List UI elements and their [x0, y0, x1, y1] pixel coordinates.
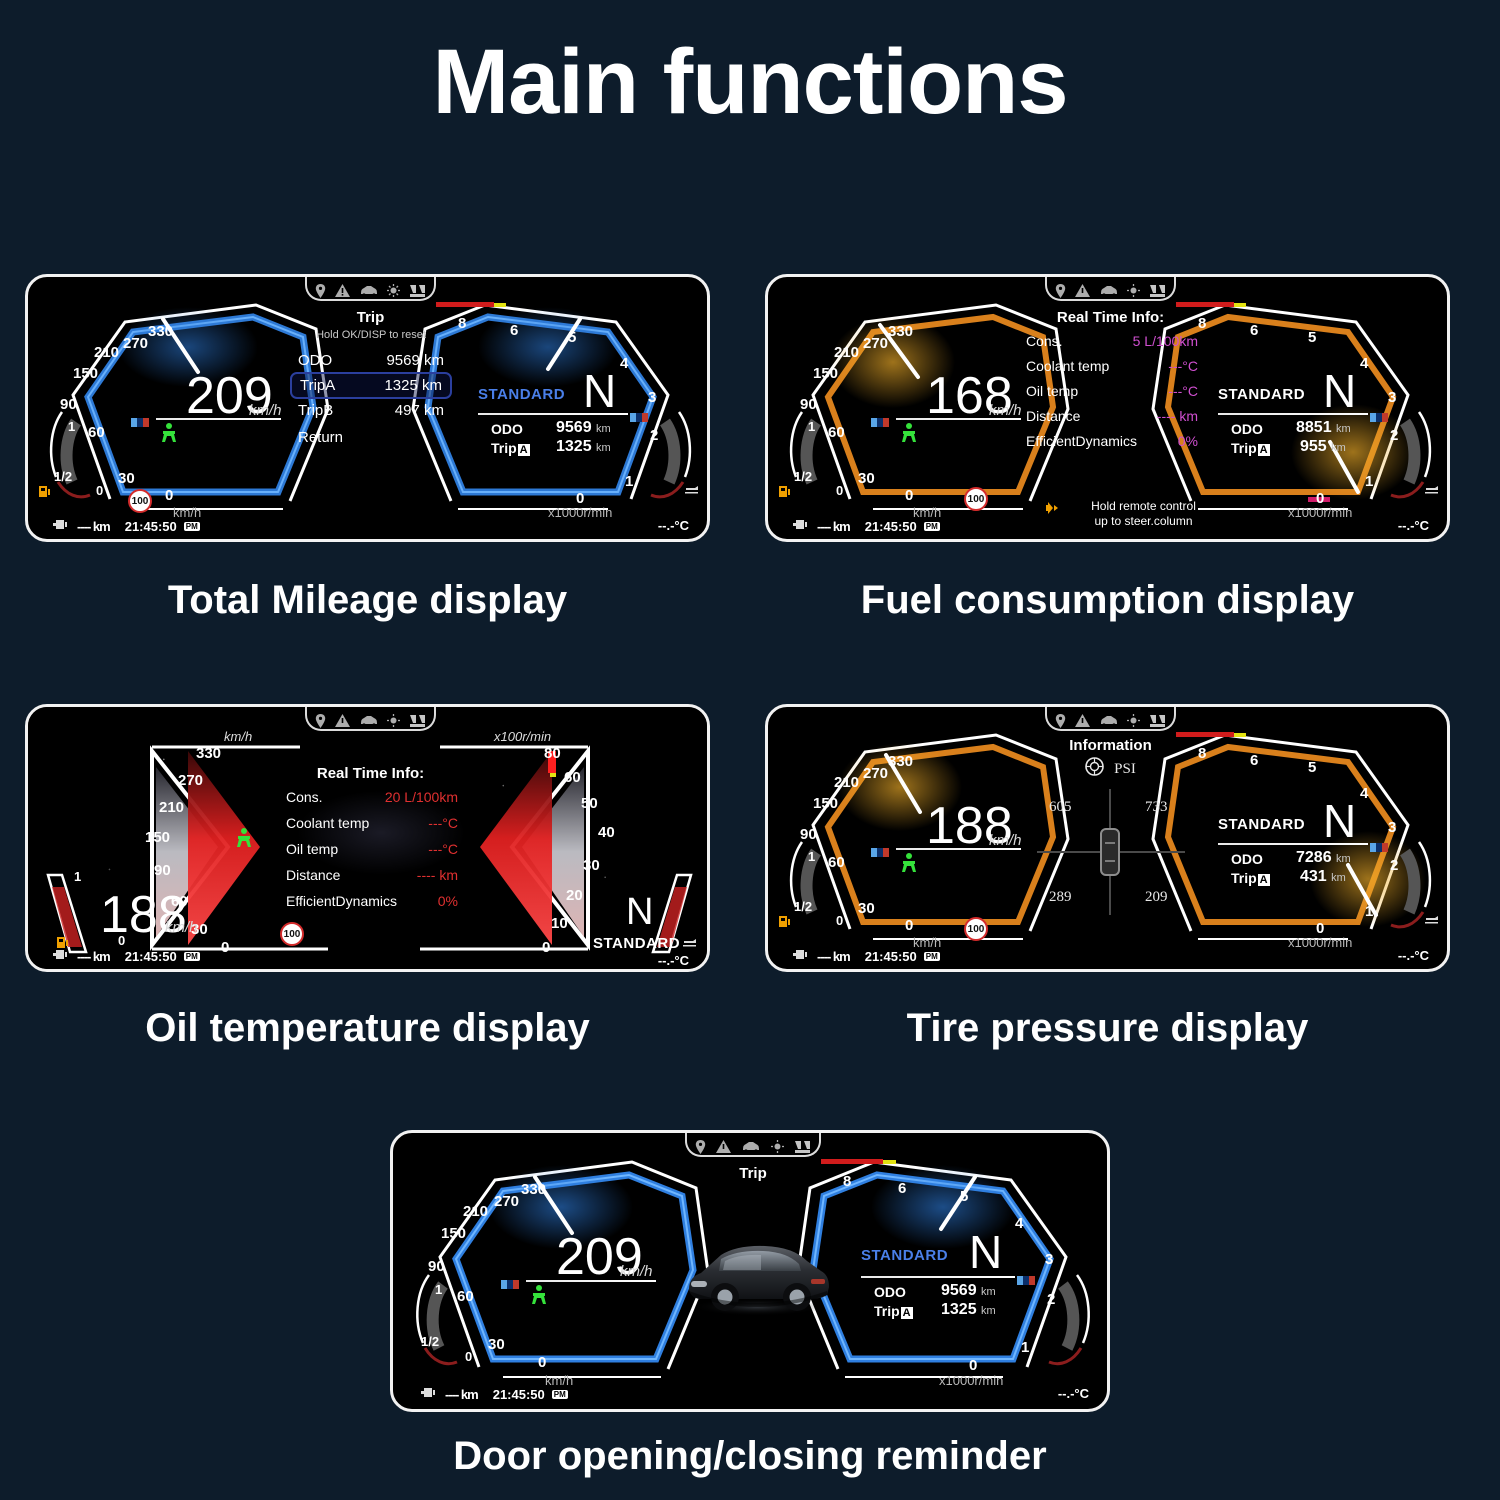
outside-temp: --.-°C: [1398, 948, 1429, 963]
status-bar: ---- km 21:45:50 PM: [53, 518, 200, 534]
speed-tick-60: 60: [828, 854, 845, 871]
trip-menu-item-return[interactable]: Return: [290, 426, 452, 449]
person-seatbelt-icon: [528, 1284, 550, 1310]
car-top-view-icon: [1100, 828, 1120, 876]
tach-tick-0: 0: [969, 1357, 977, 1374]
tach-tick-3: 3: [1045, 1251, 1053, 1268]
info-row: EfficientDynamics 0%: [286, 893, 458, 909]
warning-icon-row: [315, 283, 426, 303]
speed-tick-150: 150: [73, 365, 98, 382]
drive-mode-standard: STANDARD: [593, 935, 680, 952]
tire-front-left-value: 605: [1049, 799, 1072, 816]
trip-menu-label: TripA: [300, 377, 335, 394]
info-value: ---- km: [417, 867, 458, 883]
status-bar: ---- km 21:45:50 PM: [421, 1386, 568, 1402]
trip-menu-value: 9569 km: [386, 352, 444, 369]
car-icon: [741, 1140, 761, 1158]
tach-tick-1: 1: [1365, 473, 1373, 490]
gear-letter: N: [583, 368, 616, 414]
clock-time: 21:45:50: [125, 949, 177, 964]
trip-menu-label: ODO: [298, 352, 332, 369]
clock-time: 21:45:50: [865, 519, 917, 534]
caption-door-reminder: Door opening/closing reminder: [390, 1434, 1110, 1479]
fuel-pump-icon: [778, 914, 791, 929]
drive-mode-standard: STANDARD: [1218, 386, 1305, 403]
speed-tick-0: 0: [165, 487, 173, 504]
odo-value-row: 9569 km: [941, 1282, 996, 1300]
info-row: Distance ---- km: [1026, 408, 1198, 424]
speed-tick-0: 0: [905, 487, 913, 504]
info-row: EfficientDynamics 0%: [1026, 433, 1198, 449]
person-seatbelt-icon: [898, 852, 920, 878]
info-value: ---°C: [1168, 358, 1198, 374]
warning-triangle-icon: [335, 284, 350, 302]
drive-mode-standard: STANDARD: [1218, 816, 1305, 833]
tach-tick-1: 1: [1021, 1339, 1029, 1356]
tach-tick-4: 4: [1360, 355, 1368, 372]
gear-letter: N: [626, 893, 653, 931]
m-stripe-right: [1370, 839, 1396, 848]
fuel-label-1: 1: [74, 869, 81, 884]
tach-tick-3: 3: [1388, 819, 1396, 836]
tach-tick-60: 60: [564, 769, 581, 786]
fuel-label-half: 1/2: [54, 469, 72, 484]
odo-row: ODO: [1231, 851, 1263, 867]
range-value: ---- km: [445, 1387, 478, 1402]
cluster-screen: 330 270 210 150 90 60 30 0 km/h 8 6 5 4 …: [768, 707, 1447, 969]
speed-scale-unit: km/h: [224, 729, 252, 744]
odo-unit: km: [981, 1286, 996, 1298]
tach-tick-10: 10: [551, 915, 568, 932]
gear-letter: N: [1323, 368, 1356, 414]
range-icon: [421, 1386, 438, 1402]
speed-tick-330: 330: [196, 745, 221, 762]
speed-divider-line: [896, 848, 1021, 850]
tach-tick-50: 50: [581, 795, 598, 812]
tire-front-right-value: 733: [1145, 799, 1168, 816]
clock-time: 21:45:50: [865, 949, 917, 964]
speed-tick-210: 210: [834, 774, 859, 791]
fuel-label-half: 1/2: [421, 1334, 439, 1349]
tach-tick-6: 6: [510, 322, 518, 339]
odo-value: 9569: [941, 1282, 977, 1299]
odo-value-row: 7286 km: [1296, 849, 1351, 867]
trip-value: 1325: [941, 1301, 977, 1318]
cluster-panel-door-reminder[interactable]: Trip 330 270 210 150 90 60 30 0 km/h 8 6…: [390, 1130, 1110, 1412]
gear-letter: N: [969, 1229, 1002, 1275]
trip-label: Trip: [1231, 870, 1257, 886]
tire-pressure-unit: PSI: [1114, 761, 1136, 778]
info-value: 5 L/100km: [1133, 333, 1198, 349]
speed-tick-30: 30: [118, 470, 135, 487]
tach-tick-30: 30: [583, 857, 600, 874]
odo-value: 8851: [1296, 419, 1332, 436]
trip-menu-item[interactable]: TripB 497 km: [290, 399, 452, 422]
info-row: Cons. 20 L/100km: [286, 789, 458, 805]
sun-icon: [387, 284, 400, 302]
fuel-pump-icon: [778, 484, 791, 499]
remote-control-note: Hold remote controlup to steer.column: [1066, 499, 1221, 529]
trip-unit: km: [981, 1305, 996, 1317]
tach-tick-20: 20: [566, 887, 583, 904]
info-row: Oil temp ---°C: [286, 841, 458, 857]
trip-label: Trip: [1231, 440, 1257, 456]
tach-tick-2: 2: [650, 427, 658, 444]
odo-unit: km: [1336, 853, 1351, 865]
caption-total-mileage: Total Mileage display: [25, 578, 710, 623]
info-label: Distance: [286, 867, 340, 883]
trip-value-row: 955 km: [1300, 438, 1346, 456]
info-label: Oil temp: [286, 841, 338, 857]
trip-menu-item[interactable]: ODO 9569 km: [290, 349, 452, 372]
person-seatbelt-icon: [233, 827, 255, 853]
cluster-panel-tire-pressure[interactable]: 330 270 210 150 90 60 30 0 km/h 8 6 5 4 …: [765, 704, 1450, 972]
cluster-screen: km/h x100r/min 330 270 210 150 90 60 30 …: [28, 707, 707, 969]
tach-tick-80: 80: [544, 745, 561, 762]
odo-label: ODO: [1231, 421, 1263, 437]
speed-value-unit: km/h: [249, 402, 282, 419]
tach-unit-label: x1000r/min: [939, 1373, 1003, 1388]
sun-icon: [1127, 714, 1140, 732]
trip-value: 431: [1300, 868, 1327, 885]
tach-tick-2: 2: [1390, 857, 1398, 874]
drive-mode-standard: STANDARD: [861, 1247, 948, 1264]
key-fob-icon: [1040, 499, 1062, 522]
speed-tick-150: 150: [441, 1225, 466, 1242]
tach-unit-label: x1000r/min: [1288, 505, 1352, 520]
info-label: EfficientDynamics: [1026, 433, 1137, 449]
tach-tick-2: 2: [1390, 427, 1398, 444]
trip-badge-a: A: [901, 1307, 913, 1319]
caption-oil-temperature: Oil temperature display: [25, 1006, 710, 1051]
fuel-pump-icon: [38, 484, 51, 499]
info-label: Oil temp: [1026, 383, 1078, 399]
speed-tick-210: 210: [463, 1203, 488, 1220]
trip-badge-a: A: [518, 444, 530, 456]
person-seatbelt-icon: [898, 422, 920, 448]
speed-tick-330: 330: [521, 1181, 546, 1198]
realtime-info-list: Cons. 20 L/100km Coolant temp ---°C Oil …: [286, 789, 458, 909]
outside-temp: --.-°C: [1058, 1386, 1089, 1401]
clock-meridiem: PM: [924, 952, 940, 961]
tach-tick-4: 4: [1360, 785, 1368, 802]
trip-label: Trip: [874, 1303, 900, 1319]
speed-tick-90: 90: [60, 396, 77, 413]
tach-tick-8: 8: [458, 315, 466, 332]
range-value: ---- km: [817, 949, 850, 964]
center-info-title: Real Time Info:: [1033, 309, 1188, 326]
car-icon: [359, 284, 379, 302]
tach-tick-5: 5: [1308, 329, 1316, 346]
tach-unit-label: x1000r/min: [548, 505, 612, 520]
range-icon: [53, 948, 70, 964]
trip-menu-value: 1325 km: [384, 377, 442, 394]
speed-value-unit: km/h: [989, 402, 1022, 419]
fuel-label-0: 0: [118, 933, 125, 948]
car-icon: [1099, 284, 1119, 302]
speed-limit-sign: 100: [964, 487, 988, 511]
tach-tick-4: 4: [1015, 1215, 1023, 1232]
range-icon: [793, 948, 810, 964]
fuel-label-0: 0: [836, 483, 843, 498]
clock-time: 21:45:50: [125, 519, 177, 534]
speed-tick-270: 270: [178, 772, 203, 789]
info-label: Coolant temp: [286, 815, 369, 831]
speed-tick-210: 210: [94, 344, 119, 361]
trip-row: TripA: [874, 1303, 913, 1319]
tach-tick-5: 5: [1308, 759, 1316, 776]
info-row: Distance ---- km: [286, 867, 458, 883]
trip-value: 1325: [556, 438, 592, 455]
range-value: ---- km: [77, 519, 110, 534]
fuel-label-0: 0: [96, 483, 103, 498]
cluster-screen: Trip 330 270 210 150 90 60 30 0 km/h 8 6…: [393, 1133, 1107, 1409]
car-icon: [1099, 714, 1119, 732]
trip-row: TripA: [1231, 440, 1270, 456]
clock-meridiem: PM: [184, 522, 200, 531]
clock-meridiem: PM: [924, 522, 940, 531]
odo-row: ODO: [874, 1284, 906, 1300]
odo-row: ODO: [1231, 421, 1263, 437]
right-divider-line: [861, 1276, 1015, 1278]
speed-tick-150: 150: [813, 795, 838, 812]
info-label: EfficientDynamics: [286, 893, 397, 909]
trip-value-row: 431 km: [1300, 868, 1346, 886]
warning-icon-row: [315, 713, 426, 733]
tach-unit-label: x1000r/min: [1288, 935, 1352, 950]
speed-tick-210: 210: [159, 799, 184, 816]
seats-icon: [1149, 714, 1166, 733]
speed-tick-90: 90: [800, 826, 817, 843]
center-info-title: Real Time Info:: [293, 765, 448, 782]
location-pin-icon: [315, 284, 326, 303]
trip-menu-list: ODO 9569 km TripA 1325 km TripB 497 km R…: [290, 349, 452, 449]
trip-menu-value: 497 km: [395, 402, 444, 419]
tire-rear-left-value: 289: [1049, 889, 1072, 906]
tach-tick-40: 40: [598, 824, 615, 841]
fuel-label-0: 0: [465, 1349, 472, 1364]
tire-unit-row: PSI: [1033, 757, 1188, 781]
status-bar: ---- km 21:45:50 PM: [793, 948, 940, 964]
m-stripe-right: [1017, 1272, 1043, 1281]
outside-temp: --.-°C: [1398, 518, 1429, 533]
tach-tick-6: 6: [1250, 752, 1258, 769]
page-root: Main functions: [0, 0, 1500, 1500]
m-logo-badge: [131, 414, 157, 423]
fuel-label-1: 1: [808, 849, 815, 864]
trip-unit: km: [1331, 872, 1346, 884]
speed-value-unit: km/h: [165, 919, 198, 936]
speed-limit-sign: 100: [964, 917, 988, 941]
seats-icon: [794, 1140, 811, 1159]
tach-scale-unit: x100r/min: [494, 729, 551, 744]
speed-tick-60: 60: [457, 1288, 474, 1305]
right-divider-line: [1218, 413, 1368, 415]
warning-triangle-icon: [1075, 284, 1090, 302]
center-menu-subtitle: Hold OK/DISP to reset: [290, 329, 452, 341]
cluster-panel-total-mileage[interactable]: 330 270 210 150 90 60 30 0 km/h 8 6 5 4 …: [25, 274, 710, 542]
warning-icon-row: [1055, 283, 1166, 303]
speed-tick-90: 90: [428, 1258, 445, 1275]
tach-tick-5: 5: [568, 329, 576, 346]
outside-temp: --.-°C: [658, 518, 689, 533]
m-logo-badge: [501, 1276, 527, 1285]
caption-tire-pressure: Tire pressure display: [765, 1006, 1450, 1051]
info-value: ---°C: [428, 815, 458, 831]
clock-meridiem: PM: [184, 952, 200, 961]
realtime-info-list: Cons. 5 L/100km Coolant temp ---°C Oil t…: [1026, 333, 1198, 449]
speed-tick-60: 60: [828, 424, 845, 441]
warning-triangle-icon: [1075, 714, 1090, 732]
tach-tick-8: 8: [1198, 315, 1206, 332]
trip-badge-a: A: [1258, 874, 1270, 886]
center-menu-title: Trip: [305, 309, 436, 326]
speed-tick-0: 0: [538, 1354, 546, 1371]
trip-menu-label: TripB: [298, 402, 333, 419]
info-row: Coolant temp ---°C: [1026, 358, 1198, 374]
odo-label: ODO: [491, 421, 523, 437]
oil-can-icon: [684, 482, 697, 497]
speed-tick-210: 210: [834, 344, 859, 361]
right-divider-line: [478, 413, 628, 415]
tire-diagram: 605 733 289 209: [1023, 787, 1198, 917]
tach-tick-6: 6: [898, 1180, 906, 1197]
warning-icon-row: [1055, 713, 1166, 733]
tach-tick-1: 1: [1365, 903, 1373, 920]
trip-value-row: 1325 km: [556, 438, 611, 456]
warning-triangle-icon: [716, 1140, 731, 1158]
speed-tick-30: 30: [858, 470, 875, 487]
center-info-title: Information: [1033, 737, 1188, 754]
fuel-label-half: 1/2: [794, 899, 812, 914]
fuel-label-1: 1: [435, 1282, 442, 1297]
speed-divider-line: [896, 418, 1021, 420]
info-label: Distance: [1026, 408, 1080, 424]
trip-badge-a: A: [1258, 444, 1270, 456]
trip-menu-item-selected[interactable]: TripA 1325 km: [290, 372, 452, 399]
speed-tick-0: 0: [905, 917, 913, 934]
fuel-label-1: 1: [808, 419, 815, 434]
range-icon: [793, 518, 810, 534]
speed-tick-150: 150: [145, 829, 170, 846]
info-value: 0%: [1178, 433, 1198, 449]
m-logo-badge: [871, 414, 897, 423]
speed-tick-30: 30: [858, 900, 875, 917]
drive-mode-standard: STANDARD: [478, 386, 565, 403]
odo-label: ODO: [874, 1284, 906, 1300]
right-divider-line: [1218, 843, 1368, 845]
info-value: ---- km: [1157, 408, 1198, 424]
info-row: Oil temp ---°C: [1026, 383, 1198, 399]
speed-tick-270: 270: [494, 1193, 519, 1210]
outside-temp: --.-°C: [658, 953, 689, 968]
speed-tick-90: 90: [800, 396, 817, 413]
clock-meridiem: PM: [552, 1390, 568, 1399]
tach-tick-5: 5: [960, 1188, 968, 1205]
info-value: ---°C: [1168, 383, 1198, 399]
tach-tick-0: 0: [542, 939, 550, 956]
range-icon: [53, 518, 70, 534]
trip-label: Trip: [491, 440, 517, 456]
sun-icon: [387, 714, 400, 732]
oil-can-icon: [1424, 912, 1437, 927]
fuel-label-1: 1: [68, 419, 75, 434]
speed-tick-30: 30: [488, 1336, 505, 1353]
tach-tick-3: 3: [1388, 389, 1396, 406]
location-pin-icon: [315, 714, 326, 733]
tach-tick-1: 1: [625, 473, 633, 490]
trip-row: TripA: [1231, 870, 1270, 886]
m-stripe-right: [630, 409, 656, 418]
fuel-label-half: 1/2: [794, 469, 812, 484]
speed-tick-330: 330: [888, 323, 913, 340]
seats-icon: [409, 284, 426, 303]
cluster-panel-fuel-consumption[interactable]: 330 270 210 150 90 60 30 0 km/h 8 6 5 4 …: [765, 274, 1450, 542]
sun-icon: [1127, 284, 1140, 302]
odo-row: ODO: [491, 421, 523, 437]
cluster-panel-oil-temperature[interactable]: km/h x100r/min 330 270 210 150 90 60 30 …: [25, 704, 710, 972]
info-label: Coolant temp: [1026, 358, 1109, 374]
tire-rear-right-value: 209: [1145, 889, 1168, 906]
speed-tick-90: 90: [154, 862, 171, 879]
car-icon: [359, 714, 379, 732]
trip-unit: km: [1331, 442, 1346, 454]
m-stripe-right: [1370, 409, 1396, 418]
speed-tick-270: 270: [123, 335, 148, 352]
oil-can-icon: [1424, 482, 1437, 497]
speed-limit-sign: 100: [128, 489, 152, 513]
tach-tick-3: 3: [648, 389, 656, 406]
odo-value-row: 8851 km: [1296, 419, 1351, 437]
car-illustration: [681, 1233, 833, 1323]
speed-tick-270: 270: [863, 765, 888, 782]
odo-label: ODO: [1231, 851, 1263, 867]
location-pin-icon: [695, 1140, 706, 1159]
status-bar: ---- km 21:45:50 PM: [793, 518, 940, 534]
sun-icon: [771, 1140, 784, 1158]
tach-tick-8: 8: [1198, 745, 1206, 762]
trip-value: 955: [1300, 438, 1327, 455]
caption-fuel-consumption: Fuel consumption display: [765, 578, 1450, 623]
seats-icon: [409, 714, 426, 733]
clock-time: 21:45:50: [493, 1387, 545, 1402]
odo-value-row: 9569 km: [556, 419, 611, 437]
location-pin-icon: [1055, 714, 1066, 733]
tach-tick-6: 6: [1250, 322, 1258, 339]
speed-tick-60: 60: [88, 424, 105, 441]
range-value: ---- km: [77, 949, 110, 964]
page-title: Main functions: [0, 34, 1500, 131]
info-value: 0%: [438, 893, 458, 909]
speed-value-unit: km/h: [620, 1263, 653, 1280]
speed-tick-150: 150: [813, 365, 838, 382]
tire-icon: [1085, 757, 1104, 781]
status-bar: ---- km 21:45:50 PM: [53, 948, 200, 964]
odo-value: 7286: [1296, 849, 1332, 866]
center-menu-title: Trip: [685, 1165, 821, 1182]
speed-limit-sign: 100: [280, 922, 304, 946]
warning-icon-row: [695, 1139, 811, 1159]
oil-can-icon: [682, 935, 695, 950]
odo-unit: km: [1336, 423, 1351, 435]
location-pin-icon: [1055, 284, 1066, 303]
tach-tick-8: 8: [843, 1173, 851, 1190]
speed-tick-270: 270: [863, 335, 888, 352]
odo-value: 9569: [556, 419, 592, 436]
info-row: Cons. 5 L/100km: [1026, 333, 1198, 349]
warning-triangle-icon: [335, 714, 350, 732]
speed-divider-line: [156, 418, 281, 420]
